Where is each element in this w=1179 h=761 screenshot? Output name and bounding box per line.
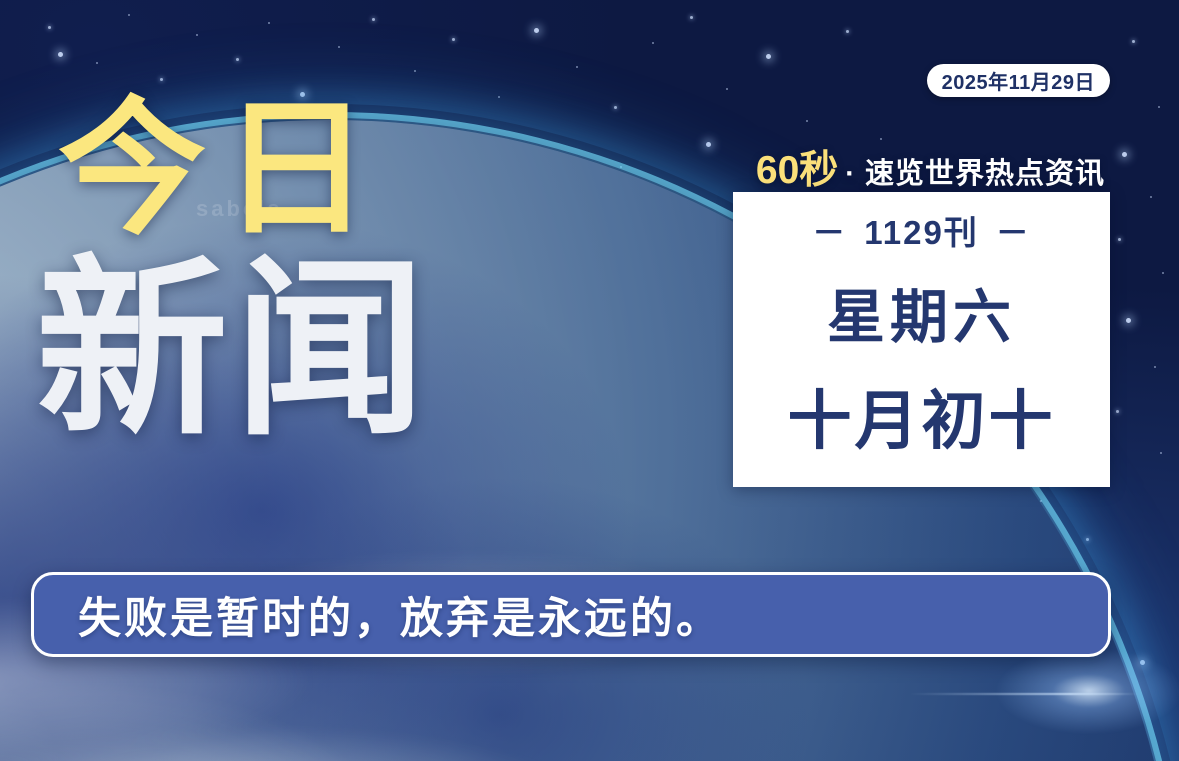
subtitle-tagline: · 速览世界热点资讯 (845, 150, 1105, 192)
subtitle-seconds: 60秒 (756, 139, 838, 195)
news-poster: sabcls 今日 新闻 2025年11月29日 60秒 · 速览世界热点资讯 … (0, 0, 1179, 761)
title-line-1: 今日 (58, 96, 432, 244)
lens-flare-streak (909, 693, 1139, 695)
poster-title: 今日 新闻 (58, 96, 432, 446)
weekday-label: 星期六 (827, 270, 1016, 354)
lunar-date-label: 十月初十 (788, 370, 1056, 462)
quote-text: 失败是暂时的，放弃是永远的。 (78, 584, 722, 646)
issue-dash-right: － (996, 206, 1031, 254)
issue-row: － 1129刊 － (812, 206, 1031, 254)
issue-number: 1129刊 (864, 206, 979, 254)
info-card: － 1129刊 － 星期六 十月初十 (733, 192, 1110, 487)
subtitle: 60秒 · 速览世界热点资讯 (756, 139, 1105, 195)
issue-dash-left: － (812, 206, 847, 254)
title-line-2: 新闻 (36, 254, 432, 446)
date-badge: 2025年11月29日 (927, 64, 1110, 97)
quote-bar: 失败是暂时的，放弃是永远的。 (31, 572, 1111, 657)
